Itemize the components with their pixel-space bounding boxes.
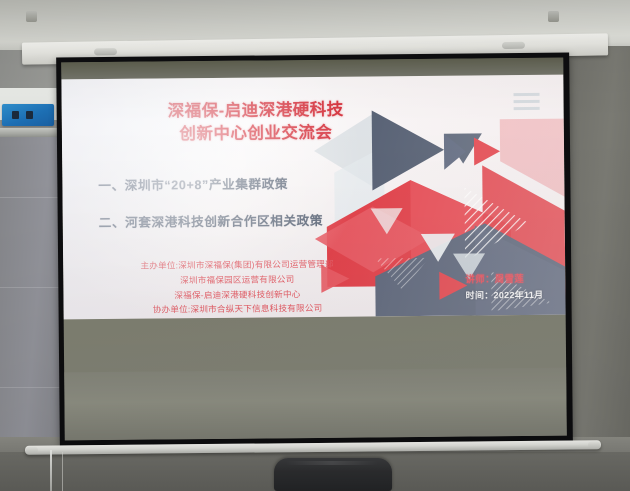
projector-screen-surface: 深福保-启迪深港硬科技 创新中心创业交流会 一、深圳市“20+8”产业集群政策 … (61, 58, 567, 441)
rod-cap-right (588, 441, 600, 448)
slide-agenda-item-1: 一、深圳市“20+8”产业集群政策 (98, 173, 288, 194)
slide-speaker-block: 讲师：周雪莲 时间：2022年11月 (465, 271, 543, 302)
slide-agenda-item-2: 二、河套深港科技创新合作区相关政策 (99, 210, 323, 231)
slide-title: 深福保-启迪深港硬科技 创新中心创业交流会 (116, 98, 396, 148)
slide-organizers: 主办单位:深圳市深福保(集团)有限公司运营管理部 深圳市福保园区运营有限公司 深… (77, 256, 398, 318)
rod-cap-left (26, 447, 38, 454)
projected-slide: 深福保-启迪深港硬科技 创新中心创业交流会 一、深圳市“20+8”产业集群政策 … (61, 75, 565, 320)
slide-speaker: 讲师：周雪莲 (465, 271, 543, 286)
organizer-line-4: 协办单位:深圳市合纵天下信息科技有限公司 (78, 301, 398, 319)
casing-cap-right (502, 42, 525, 49)
screen-unlit-bottom (64, 368, 567, 441)
casing-bracket-left (26, 11, 37, 22)
blue-wall-sign (2, 104, 54, 126)
chair-highlight (286, 461, 378, 465)
projector-screen-frame: 深福保-启迪深港硬科技 创新中心创业交流会 一、深圳市“20+8”产业集群政策 … (56, 53, 573, 446)
slide-title-line-2: 创新中心创业交流会 (116, 122, 396, 148)
slide-title-line-1: 深福保-启迪深港硬科技 (116, 98, 396, 124)
sign-glyph-left (12, 111, 19, 119)
right-wall (566, 46, 630, 491)
screen-pull-cord-secondary[interactable] (62, 452, 63, 491)
casing-cap-left (94, 48, 117, 55)
conference-room-photo: 深福保-启迪深港硬科技 创新中心创业交流会 一、深圳市“20+8”产业集群政策 … (0, 0, 630, 491)
sign-glyph-right (26, 111, 33, 119)
screen-pull-cord[interactable] (50, 450, 52, 491)
office-chair-backrest (274, 458, 392, 491)
slide-date: 时间：2022年11月 (466, 288, 544, 302)
casing-bracket-right (548, 11, 559, 22)
